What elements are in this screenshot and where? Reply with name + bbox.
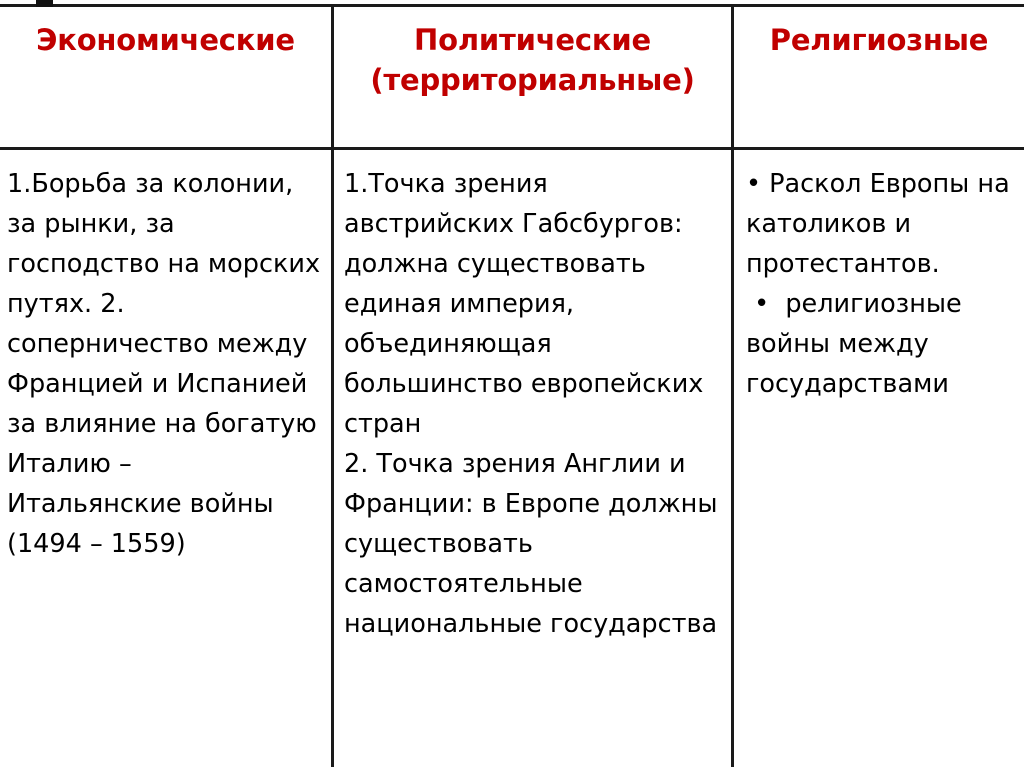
slide-page: Экономические Политические (территориаль… <box>0 0 1024 767</box>
causes-comparison-table: Экономические Политические (территориаль… <box>0 7 1024 767</box>
top-left-notch-marker <box>36 0 53 7</box>
cell-religious-causes: • Раскол Европы на католиков и протестан… <box>734 150 1024 767</box>
table-body-row: 1.Борьба за колонии, за рынки, за господ… <box>0 150 1024 767</box>
column-header-economic: Экономические <box>0 7 331 147</box>
cell-economic-causes: 1.Борьба за колонии, за рынки, за господ… <box>0 150 331 767</box>
column-header-religious: Религиозные <box>734 7 1024 147</box>
table-header-row: Экономические Политические (территориаль… <box>0 7 1024 147</box>
cell-political-causes: 1.Точка зрения австрийских Габсбургов: д… <box>334 150 731 767</box>
column-header-political: Политические (территориальные) <box>334 7 731 147</box>
